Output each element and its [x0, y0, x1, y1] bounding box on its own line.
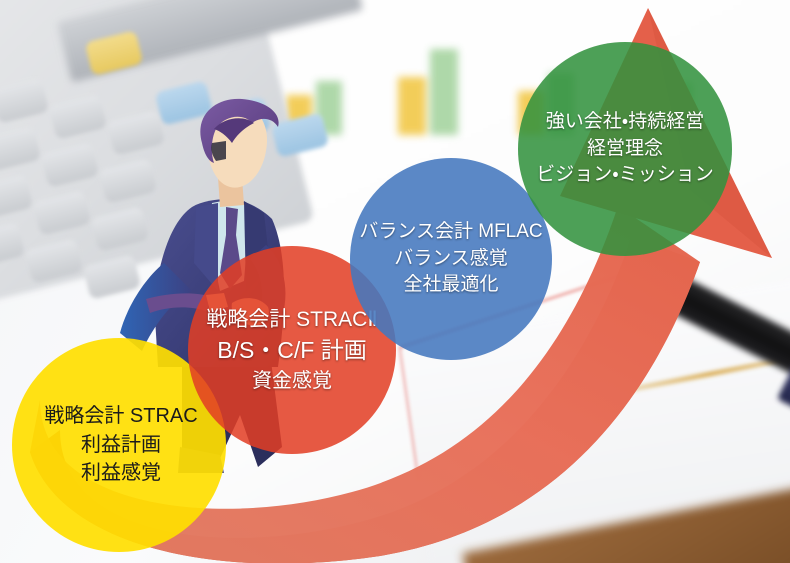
step-red-line-1: 戦略会計 STRACⅡ: [206, 305, 377, 335]
step-green-line-2: 経営理念: [587, 136, 663, 163]
step-yellow-line-3: 利益感覚: [81, 459, 161, 487]
step-blue-line-3: 全社最適化: [403, 272, 498, 299]
step-green-line-1: 強い会社・持続経営: [546, 109, 704, 136]
poster-canvas: 戦略会計 STRAC 利益計画 利益感覚 戦略会計 STRACⅡ B/S・C/F…: [0, 0, 790, 563]
step-yellow-line-1: 戦略会計 STRAC: [44, 402, 197, 430]
step-red-line-3: 資金感覚: [252, 367, 332, 395]
step-blue-line-1: バランス会計 MFLAC: [359, 219, 542, 246]
step-green-line-3: ビジョン・ミッション: [536, 162, 713, 189]
step-bubble-green[interactable]: 強い会社・持続経営 経営理念 ビジョン・ミッション: [518, 42, 732, 256]
step-blue-line-2: バランス感覚: [394, 246, 508, 273]
step-bubble-blue[interactable]: バランス会計 MFLAC バランス感覚 全社最適化: [350, 158, 552, 360]
step-red-line-2: B/S・C/F 計画: [217, 334, 367, 367]
step-yellow-line-2: 利益計画: [81, 431, 161, 459]
